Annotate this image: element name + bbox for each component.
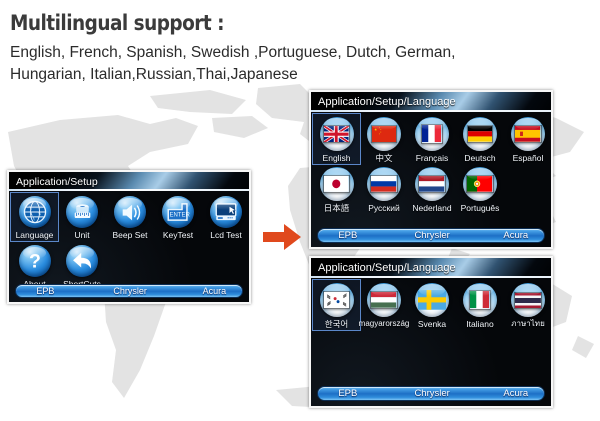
language-item-thai[interactable]: ภาษาไทย	[504, 280, 552, 330]
flag-hungary	[367, 283, 401, 317]
globe-icon	[19, 196, 51, 228]
setup-item-label: Beep Set	[113, 231, 148, 240]
language-item-french[interactable]: Français	[408, 114, 456, 164]
setup-screen[interactable]: Application/Setup Language	[7, 170, 251, 304]
flag-thailand	[511, 283, 545, 317]
language-item-italian[interactable]: Italiano	[456, 280, 504, 330]
setup-item-language[interactable]: Language	[11, 193, 58, 241]
language-item-label: Italiano	[466, 320, 493, 329]
language-item-label: magyarország	[359, 320, 410, 328]
flag-china	[367, 117, 401, 151]
function-bar-epb[interactable]: EPB	[318, 388, 395, 399]
function-bar-acura[interactable]: Acura	[469, 388, 544, 399]
language-item-label: Русский	[368, 204, 400, 213]
setup-item-label: KeyTest	[163, 231, 193, 240]
language-page2-titlebar: Application/Setup/Language	[311, 258, 551, 278]
function-bar-acura[interactable]: Acura	[167, 286, 242, 296]
language-item-japanese[interactable]: 日本語	[313, 164, 360, 214]
setup-item-keytest[interactable]: ENTER KeyTest	[154, 193, 202, 241]
question-mark-icon: ?	[19, 245, 51, 277]
language-page2-title: Application/Setup/Language	[318, 262, 456, 274]
function-bar-chrysler[interactable]: Chrysler	[395, 388, 470, 399]
function-bar-acura[interactable]: Acura	[469, 230, 544, 241]
flag-france	[415, 117, 449, 151]
language-item-label: Português	[461, 204, 500, 213]
setup-function-bar[interactable]: EPB Chrysler Acura	[15, 284, 243, 298]
language-item-hungarian[interactable]: magyarország	[360, 280, 408, 330]
language-page2-function-bar[interactable]: EPB Chrysler Acura	[317, 386, 545, 401]
setup-item-shortcuts[interactable]: ShortCuts	[58, 241, 106, 289]
svg-text:ENTER: ENTER	[169, 212, 190, 218]
arrow-right-icon	[262, 222, 302, 252]
language-item-label: Nederland	[412, 204, 451, 213]
language-page2-grid: 한국어 magyarország	[313, 280, 553, 330]
language-item-english[interactable]: English	[313, 114, 360, 164]
setup-item-lcd-test[interactable]: Lcd Test	[202, 193, 250, 241]
measuring-tape-icon	[66, 196, 98, 228]
language-item-swedish[interactable]: Svenka	[408, 280, 456, 330]
flag-japan	[320, 167, 354, 201]
page-title: Multilingual support :	[10, 11, 224, 35]
language-screen-page1[interactable]: Application/Setup/Language	[309, 90, 553, 249]
flag-korea	[320, 283, 354, 317]
language-page1-title: Application/Setup/Language	[318, 96, 456, 108]
flag-sweden	[415, 283, 449, 317]
language-item-russian[interactable]: Русский	[360, 164, 408, 214]
setup-item-about[interactable]: ? About	[11, 241, 58, 289]
setup-item-label: Lcd Test	[210, 231, 242, 240]
language-list-line-1: English, French, Spanish, Swedish ,Portu…	[10, 42, 590, 63]
function-bar-epb[interactable]: EPB	[318, 230, 395, 241]
function-bar-epb[interactable]: EPB	[16, 286, 93, 296]
flag-uk	[320, 117, 354, 151]
language-page1-function-bar[interactable]: EPB Chrysler Acura	[317, 228, 545, 243]
monitor-cursor-icon	[210, 196, 242, 228]
language-item-label: 한국어	[325, 320, 348, 329]
language-list-line-2: Hungarian, Italian,Russian,Thai,Japanese	[10, 64, 590, 85]
enter-key-icon: ENTER	[162, 196, 194, 228]
language-item-german[interactable]: Deutsch	[456, 114, 504, 164]
flag-spain	[511, 117, 545, 151]
language-item-label: Español	[513, 154, 544, 163]
svg-text:?: ?	[29, 251, 41, 273]
speaker-icon	[114, 196, 146, 228]
language-item-dutch[interactable]: Nederland	[408, 164, 456, 214]
language-item-label: 日本語	[324, 204, 350, 213]
setup-item-unit[interactable]: Unit	[58, 193, 106, 241]
language-page1-grid: English	[313, 114, 553, 214]
function-bar-chrysler[interactable]: Chrysler	[93, 286, 168, 296]
setup-icon-grid: Language Unit	[11, 193, 251, 289]
language-item-label: Svenka	[418, 320, 446, 329]
titlebar-underline	[9, 189, 249, 191]
function-bar-chrysler[interactable]: Chrysler	[395, 230, 470, 241]
language-item-label: ภาษาไทย	[511, 320, 545, 328]
language-item-label: Français	[416, 154, 449, 163]
flag-netherlands	[415, 167, 449, 201]
titlebar-underline	[311, 110, 551, 112]
language-item-chinese[interactable]: 中文	[360, 114, 408, 164]
language-screen-page2[interactable]: Application/Setup/Language	[309, 256, 553, 408]
language-item-label: English	[323, 154, 351, 163]
setup-screen-titlebar: Application/Setup	[9, 172, 249, 191]
language-item-spanish[interactable]: Español	[504, 114, 552, 164]
back-arrow-icon	[66, 245, 98, 277]
flag-portugal	[463, 167, 497, 201]
language-item-portuguese[interactable]: Português	[456, 164, 504, 214]
language-page1-titlebar: Application/Setup/Language	[311, 92, 551, 112]
language-item-korean[interactable]: 한국어	[313, 280, 360, 330]
flag-russia	[367, 167, 401, 201]
flag-germany	[463, 117, 497, 151]
setup-item-label: Language	[16, 231, 54, 240]
titlebar-underline	[311, 276, 551, 278]
language-item-label: Deutsch	[464, 154, 495, 163]
setup-item-beep-set[interactable]: Beep Set	[106, 193, 154, 241]
flag-italy	[463, 283, 497, 317]
language-item-label: 中文	[375, 154, 392, 163]
setup-item-label: Unit	[74, 231, 89, 240]
setup-screen-title: Application/Setup	[16, 176, 98, 188]
